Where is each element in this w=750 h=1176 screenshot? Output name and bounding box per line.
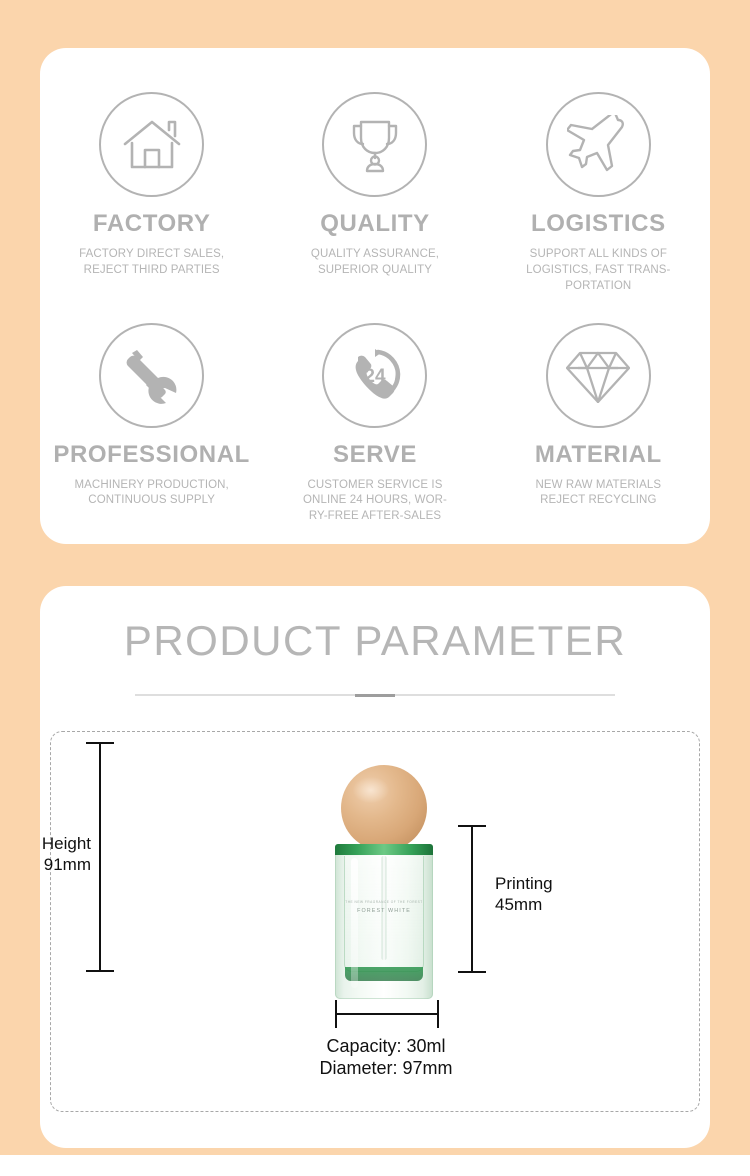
width-dimension-line: [335, 1013, 439, 1015]
feature-title: FACTORY: [93, 212, 211, 236]
height-dimension-cap-bottom: [86, 970, 114, 972]
feature-desc: SUPPORT ALL KINDS OF LOGISTICS, FAST TRA…: [526, 247, 670, 295]
feature-desc: MACHINERY PRODUCTION, CONTINUOUS SUPPLY: [74, 478, 228, 510]
feature-title: LOGISTICS: [531, 212, 666, 236]
printing-dimension-label: Printing 45mm: [495, 873, 615, 915]
width-dimension-cap-left: [335, 1000, 337, 1028]
printing-dimension-cap-bottom: [458, 971, 486, 973]
feature-title: PROFESSIONAL: [53, 443, 250, 467]
tools-icon: [99, 323, 204, 428]
feature-item-serve: 24 SERVE CUSTOMER SERVICE IS ONLINE 24 H…: [263, 323, 486, 526]
home-icon: [99, 92, 204, 197]
trophy-icon: [322, 92, 427, 197]
feature-desc: FACTORY DIRECT SALES, REJECT THIRD PARTI…: [79, 247, 224, 279]
feature-item-professional: PROFESSIONAL MACHINERY PRODUCTION, CONTI…: [40, 323, 263, 526]
height-dimension-line: [99, 742, 101, 972]
height-dimension-label: Height 91mm: [3, 833, 91, 875]
feature-desc: QUALITY ASSURANCE, SUPERIOR QUALITY: [311, 247, 439, 279]
product-image-perfume-bottle: THE NEW FRAGRANCE OF THE FOREST FOREST W…: [335, 765, 433, 999]
feature-title: SERVE: [333, 443, 417, 467]
diagram-frame: THE NEW FRAGRANCE OF THE FOREST FOREST W…: [50, 731, 700, 1112]
page-title: PRODUCT PARAMETER: [40, 620, 710, 662]
width-dimension-cap-right: [437, 1000, 439, 1028]
feature-grid: FACTORY FACTORY DIRECT SALES, REJECT THI…: [40, 92, 710, 525]
phone-24-icon: 24: [322, 323, 427, 428]
feature-title: MATERIAL: [535, 443, 662, 467]
diamond-icon: [546, 323, 651, 428]
product-parameter-card: PRODUCT PARAMETER THE NEW FRAGRANCE: [40, 586, 710, 1148]
svg-text:24: 24: [364, 366, 386, 387]
feature-item-logistics: LOGISTICS SUPPORT ALL KINDS OF LOGISTICS…: [487, 92, 710, 295]
feature-desc: CUSTOMER SERVICE IS ONLINE 24 HOURS, WOR…: [303, 478, 447, 526]
feature-item-material: MATERIAL NEW RAW MATERIALS REJECT RECYCL…: [487, 323, 710, 526]
feature-item-factory: FACTORY FACTORY DIRECT SALES, REJECT THI…: [40, 92, 263, 295]
bottle-dimension-diagram: THE NEW FRAGRANCE OF THE FOREST FOREST W…: [51, 732, 701, 1113]
title-divider: [135, 694, 615, 696]
feature-item-quality: QUALITY QUALITY ASSURANCE, SUPERIOR QUAL…: [263, 92, 486, 295]
title-divider-accent: [355, 694, 395, 697]
feature-title: QUALITY: [320, 212, 430, 236]
features-card: FACTORY FACTORY DIRECT SALES, REJECT THI…: [40, 48, 710, 544]
printing-dimension-cap-top: [458, 825, 486, 827]
bottle-glass-body: THE NEW FRAGRANCE OF THE FOREST FOREST W…: [335, 844, 433, 999]
printing-dimension-line: [471, 825, 473, 973]
height-dimension-cap-top: [86, 742, 114, 744]
airplane-icon: [546, 92, 651, 197]
capacity-diameter-label: Capacity: 30ml Diameter: 97mm: [236, 1035, 536, 1080]
bottle-wick: [382, 856, 387, 960]
page-root: FACTORY FACTORY DIRECT SALES, REJECT THI…: [0, 0, 750, 1176]
bottle-wooden-ball-cap: [341, 765, 427, 851]
bottle-neck-rim: [335, 844, 433, 855]
feature-desc: NEW RAW MATERIALS REJECT RECYCLING: [535, 478, 661, 510]
bottle-glass-highlight: [351, 858, 358, 988]
